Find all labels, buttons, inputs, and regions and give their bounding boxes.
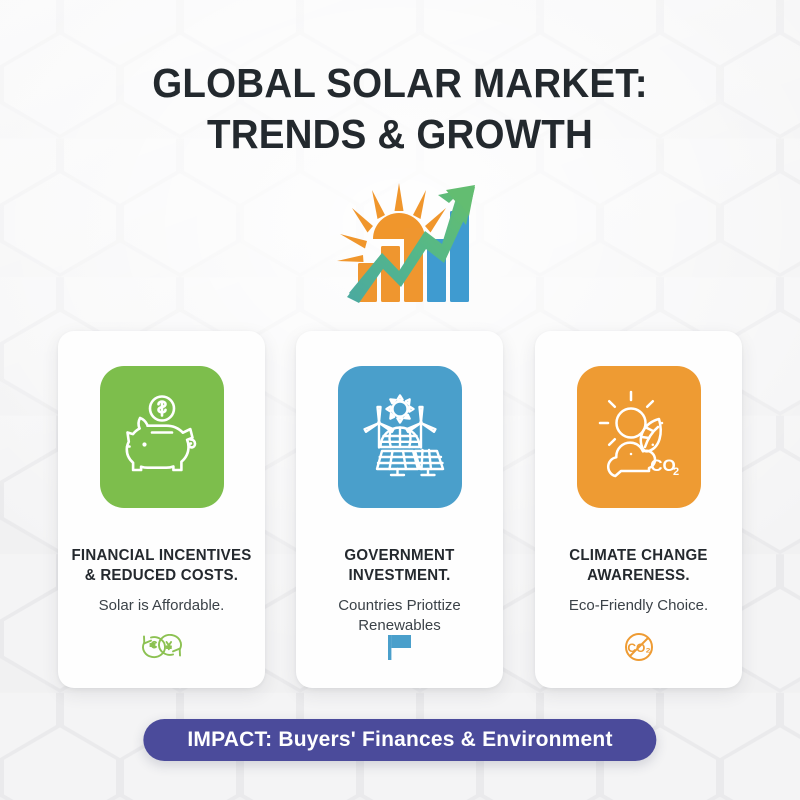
card-headline-line-2: AWARENESS. [587, 567, 690, 584]
card-headline: FINANCIAL INCENTIVES & REDUCED COSTS. [69, 546, 254, 586]
co2-label-small: CO₂ [627, 641, 650, 655]
info-card-climate-change-awareness[interactable]: CO 2 CLIMATE CHANGE AWARENESS. Eco-Frien… [535, 331, 742, 688]
card-headline-line-2: & REDUCED COSTS. [85, 567, 238, 584]
renewable-energy-globe-icon [352, 389, 448, 485]
card-headline-line-2: INVESTMENT. [348, 567, 450, 584]
sun-leaf-co2-cloud-icon: CO 2 [591, 389, 687, 485]
card-subline-line-1: Solar is Affordable. [99, 597, 225, 614]
title-line-2: TRENDS & GROWTH [24, 109, 776, 160]
card-subline: Eco-Friendly Choice. [543, 596, 734, 616]
card-headline-line-1: FINANCIAL INCENTIVES [72, 547, 252, 564]
piggy-bank-icon [116, 391, 208, 483]
info-card-financial-incentives[interactable]: FINANCIAL INCENTIVES & REDUCED COSTS. So… [58, 331, 265, 688]
card-icon-tile-blue [338, 366, 462, 508]
no-co2-icon: CO₂ [622, 630, 656, 664]
card-mini-icon-slot: CO₂ [616, 630, 662, 664]
card-headline-line-1: CLIMATE CHANGE [569, 547, 707, 564]
card-subline-line-1: Countries Priottize [338, 597, 461, 614]
card-icon-tile-green [100, 366, 224, 508]
impact-banner[interactable]: IMPACT: Buyers' Finances & Environment [143, 719, 656, 761]
card-mini-icon-slot [139, 630, 185, 664]
card-headline-line-1: GOVERNMENT [344, 547, 454, 564]
flag-icon [384, 632, 416, 662]
info-card-government-investment[interactable]: GOVERNMENT INVESTMENT. Countries Priotti… [296, 331, 503, 688]
co2-label: CO [650, 456, 676, 475]
card-headline: GOVERNMENT INVESTMENT. [307, 546, 492, 586]
card-headline: CLIMATE CHANGE AWARENESS. [546, 546, 731, 586]
card-icon-tile-orange: CO 2 [577, 366, 701, 508]
currency-exchange-icon [140, 634, 184, 660]
co2-subscript: 2 [672, 466, 678, 478]
page-title: GLOBAL SOLAR MARKET: TRENDS & GROWTH [24, 58, 776, 160]
card-subline: Solar is Affordable. [66, 596, 257, 616]
title-line-1: GLOBAL SOLAR MARKET: [152, 60, 647, 106]
card-subline-line-1: Eco-Friendly Choice. [569, 597, 708, 614]
impact-banner-text: IMPACT: Buyers' Finances & Environment [187, 728, 612, 752]
card-mini-icon-slot [377, 630, 423, 664]
solar-growth-chart-icon [325, 183, 475, 305]
